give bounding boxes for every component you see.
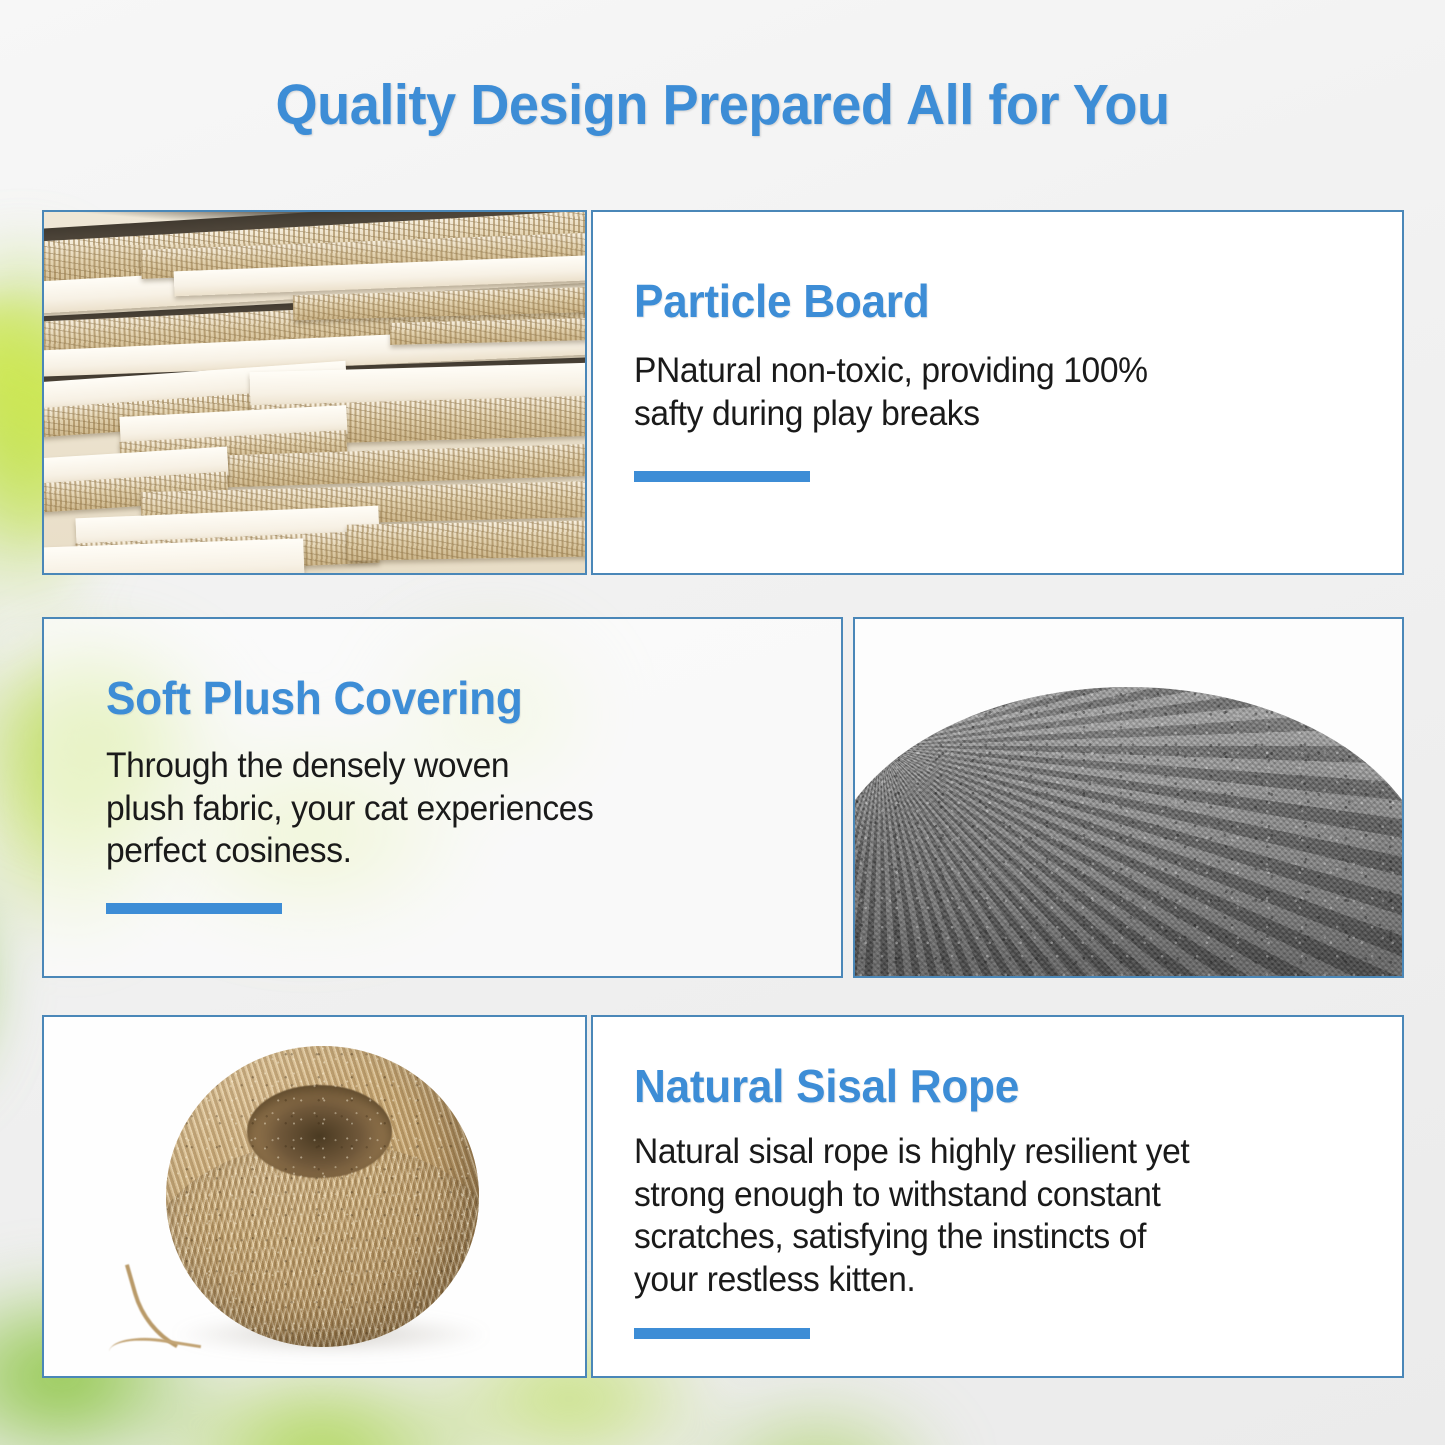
feature-2-image-box	[853, 617, 1404, 978]
infographic-canvas: Quality Design Prepared All for You	[0, 0, 1445, 1445]
feature-3-text: Natural Sisal Rope Natural sisal rope is…	[634, 1059, 1382, 1339]
plush-speckle-texture	[853, 687, 1404, 976]
feature-3-body: Natural sisal rope is highly resilient y…	[634, 1131, 1352, 1302]
feature-3-heading: Natural Sisal Rope	[634, 1059, 1352, 1113]
feature-1-body: PNatural non-toxic, providing 100% safty…	[634, 350, 1348, 435]
feature-1-text: Particle Board PNatural non-toxic, provi…	[634, 274, 1378, 482]
plush-fabric-photo	[855, 619, 1402, 976]
page-title: Quality Design Prepared All for You	[36, 72, 1409, 138]
sisal-rope-photo	[44, 1017, 585, 1376]
feature-1-accent-rule	[634, 471, 810, 482]
particle-board-photo	[44, 212, 585, 573]
plush-dome	[853, 687, 1404, 976]
feature-2-accent-rule	[106, 903, 282, 914]
feature-3-accent-rule	[634, 1328, 810, 1339]
feature-1-heading: Particle Board	[634, 274, 1348, 328]
feature-2-heading: Soft Plush Covering	[106, 671, 789, 725]
feature-3-text-box: Natural Sisal Rope Natural sisal rope is…	[591, 1015, 1404, 1378]
feature-1-image-box	[42, 210, 587, 575]
feature-1-text-box: Particle Board PNatural non-toxic, provi…	[591, 210, 1404, 575]
feature-3-image-box	[42, 1015, 587, 1378]
feature-2-text-box: Soft Plush Covering Through the densely …	[42, 617, 843, 978]
feature-2-body: Through the densely woven plush fabric, …	[106, 745, 789, 873]
feature-2-text: Soft Plush Covering Through the densely …	[106, 671, 817, 914]
